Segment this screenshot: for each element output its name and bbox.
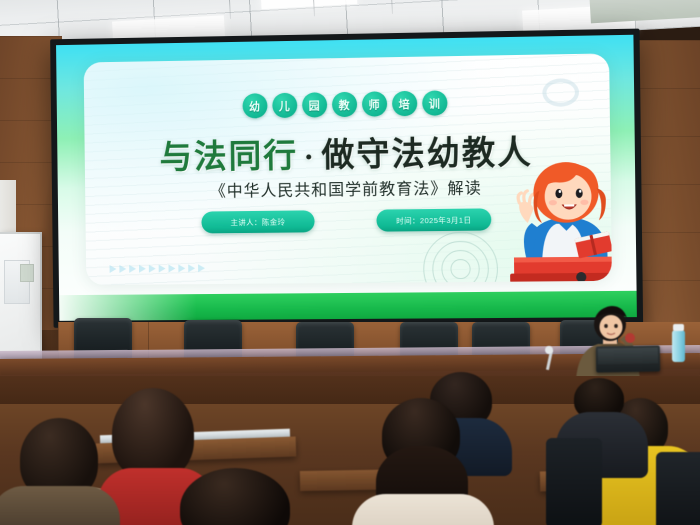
presenter-laptop (596, 345, 660, 372)
arrow-icon (149, 265, 156, 273)
badge-circle: 培 (391, 91, 416, 116)
title-green-part: 与法同行 (159, 136, 298, 177)
water-bottle-cap (673, 324, 684, 331)
lecture-hall-photo: 幼 儿 园 教 师 培 训 与法同行·做守法幼教人 《中华人民共和国学前教育法》… (0, 0, 700, 525)
audience-body (352, 494, 494, 525)
arrow-icon (198, 264, 205, 272)
audience-head (112, 388, 194, 480)
badge-circle: 训 (422, 90, 447, 115)
chair-back (656, 452, 700, 525)
microphone-icon (545, 346, 553, 354)
water-bottle (672, 330, 685, 362)
laptop-screen (598, 347, 658, 364)
badge-circle: 教 (331, 92, 356, 117)
arrow-icon (110, 265, 117, 273)
arrow-icon (159, 265, 166, 273)
speaker-pill: 主讲人：陈金玲 (201, 210, 314, 233)
badge-circle: 师 (361, 91, 386, 116)
badge-circle: 幼 (242, 93, 267, 118)
arrow-icon (119, 265, 126, 273)
arrow-icon (178, 264, 185, 272)
whiteboard-note-small (20, 264, 34, 282)
arrow-icon (188, 264, 195, 272)
title-separator: · (298, 142, 322, 173)
projection-screen: 幼 儿 园 教 师 培 训 与法同行·做守法幼教人 《中华人民共和国学前教育法》… (56, 35, 637, 321)
arrow-icon (168, 264, 175, 272)
slide-green-band-fade (59, 294, 197, 321)
projection-screen-frame: 幼 儿 园 教 师 培 训 与法同行·做守法幼教人 《中华人民共和国学前教育法》… (50, 29, 643, 328)
cartoon-teacher-illustration (482, 159, 611, 285)
badge-circle: 儿 (272, 93, 297, 118)
arrow-icon (129, 265, 136, 273)
arrow-icon (139, 265, 146, 273)
slide-card: 幼 儿 园 教 师 培 训 与法同行·做守法幼教人 《中华人民共和国学前教育法》… (84, 53, 612, 285)
decorative-arrows (110, 264, 206, 273)
whiteboard (0, 232, 42, 366)
audience-body (0, 486, 120, 525)
ring (450, 259, 470, 279)
date-pill: 时间：2025年3月1日 (376, 208, 491, 231)
badge-circle: 园 (302, 92, 327, 117)
chair-back (546, 438, 602, 525)
